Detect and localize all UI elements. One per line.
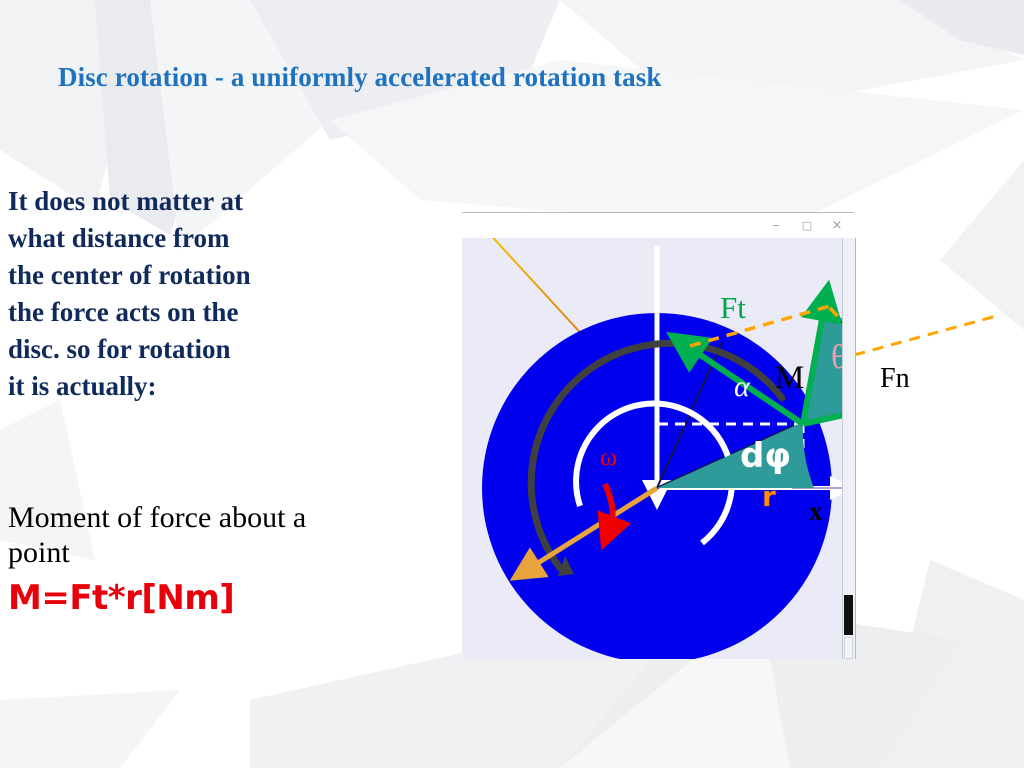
label-theta: θ [831, 339, 842, 376]
window-scrollbar[interactable] [842, 238, 856, 659]
label-ft: Ft [720, 290, 746, 325]
moment-formula: M=Ft*r[Nm] [8, 578, 234, 618]
label-m: M [775, 360, 804, 396]
moment-caption: Moment of force about a point [8, 500, 478, 570]
label-fn: Fn [880, 363, 910, 395]
minimize-icon[interactable]: – [767, 217, 785, 235]
label-omega: ω [600, 442, 617, 471]
page-title: Disc rotation - a uniformly accelerated … [58, 62, 958, 93]
scrollbar-track-lower[interactable] [844, 637, 853, 659]
slide-canvas: Disc rotation - a uniformly accelerated … [0, 0, 1024, 768]
label-dphi: dφ [740, 436, 791, 476]
close-icon[interactable]: × [828, 217, 846, 235]
maximize-icon[interactable]: □ [798, 217, 816, 235]
body-paragraph: It does not matter at what distance from… [8, 183, 448, 405]
diagram-canvas: Ft M θ α ω dφ r x [462, 238, 842, 659]
diagram-window: – □ × [462, 212, 854, 659]
dashed-guide-right [836, 315, 1000, 360]
label-x: x [809, 496, 823, 526]
label-r: r [762, 480, 776, 513]
label-alpha: α [734, 370, 751, 403]
scrollbar-thumb[interactable] [844, 595, 853, 635]
window-titlebar: – □ × [462, 212, 854, 239]
